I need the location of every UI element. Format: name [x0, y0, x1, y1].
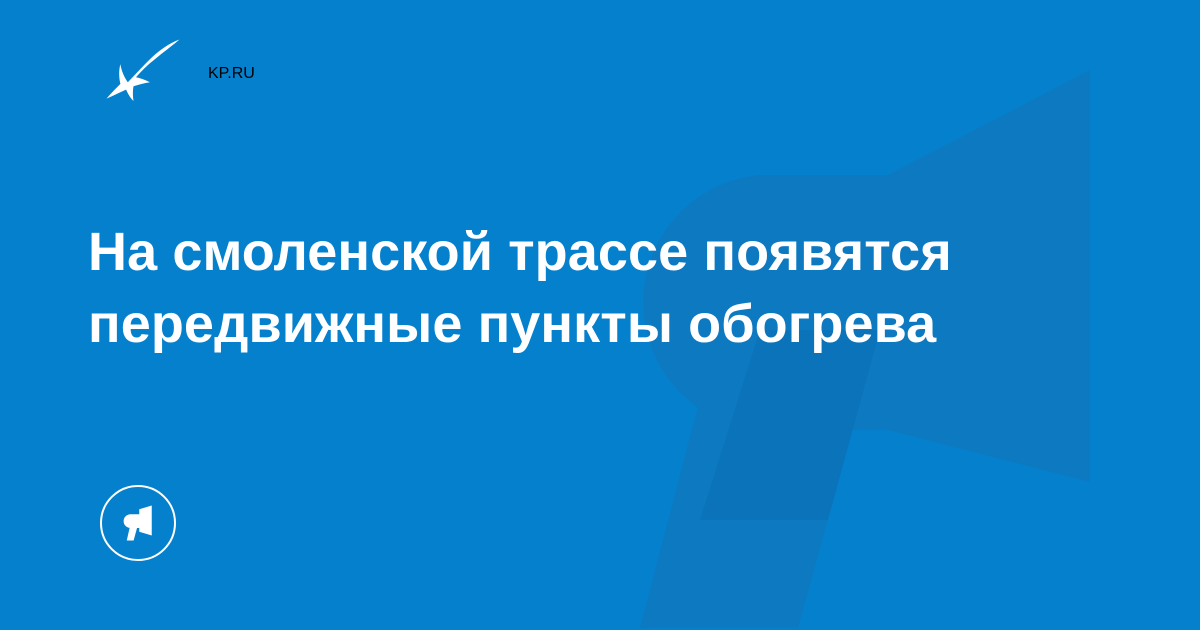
swallow-bird-icon	[104, 33, 186, 115]
brand-wordmark: KP.RU	[208, 65, 255, 83]
megaphone-badge[interactable]	[100, 485, 176, 561]
megaphone-icon	[118, 503, 158, 543]
headline-line-2: передвижные пункты обогрева	[88, 288, 1048, 360]
headline: На смоленской трассе появятся передвижны…	[88, 216, 1048, 360]
brand-logo[interactable]: KP.RU	[104, 33, 255, 115]
headline-line-1: На смоленской трассе появятся	[88, 216, 1048, 288]
megaphone-watermark-handle	[640, 330, 880, 628]
social-share-card: KP.RU На смоленской трассе появятся пере…	[0, 0, 1200, 630]
